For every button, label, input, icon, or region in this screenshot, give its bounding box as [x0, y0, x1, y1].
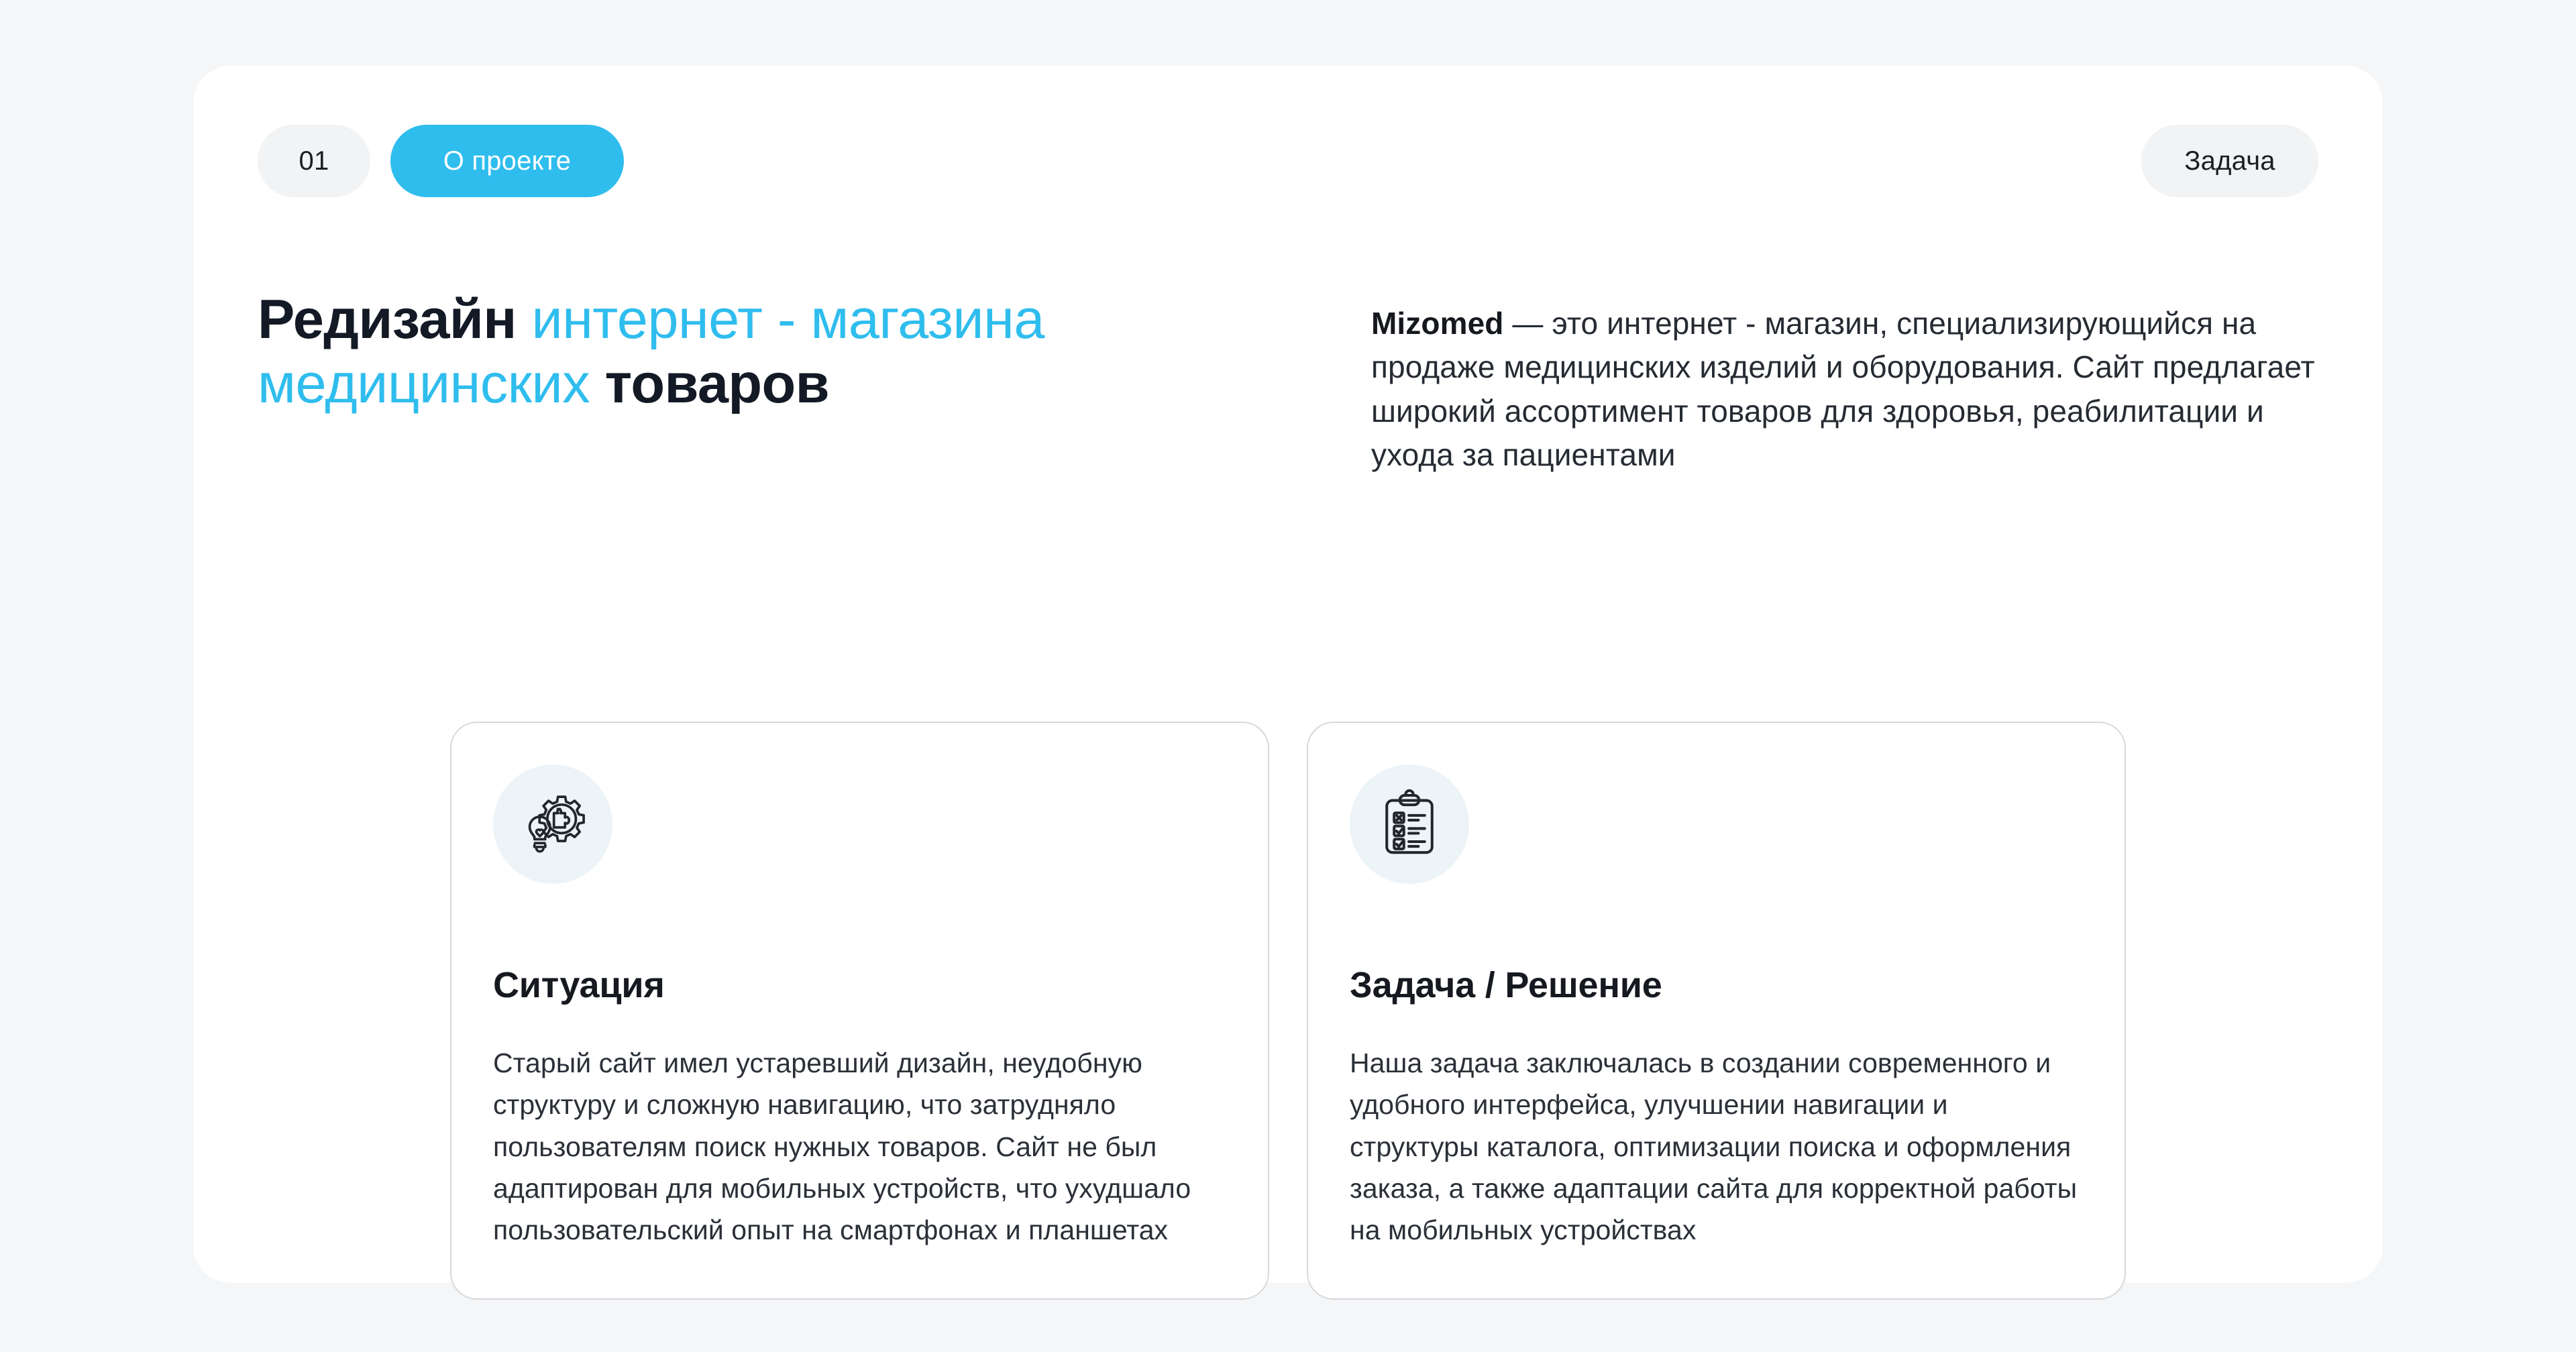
situation-card: Ситуация Старый сайт имел устаревший диз…	[450, 722, 1269, 1300]
card-title: Ситуация	[493, 964, 1226, 1006]
brand-name: Mizomed	[1371, 306, 1503, 341]
section-label-tab[interactable]: О проекте	[390, 125, 624, 197]
topbar: 01 О проекте Задача	[258, 125, 2318, 197]
icon-badge	[1350, 765, 1469, 884]
content-panel: 01 О проекте Задача Редизайн интернет - …	[193, 66, 2383, 1283]
headline-part-3: товаров	[604, 352, 829, 414]
section-number-badge: 01	[258, 125, 370, 197]
headline-column: Редизайн интернет - магазина медицинских…	[258, 287, 1304, 416]
intro-section: Редизайн интернет - магазина медицинских…	[258, 287, 2318, 477]
cards-row: Ситуация Старый сайт имел устаревший диз…	[450, 722, 2126, 1300]
gear-puzzle-lightbulb-icon	[517, 788, 589, 860]
task-badge[interactable]: Задача	[2141, 125, 2318, 197]
headline-part-1: Редизайн	[258, 288, 531, 350]
page-title: Редизайн интернет - магазина медицинских…	[258, 287, 1304, 416]
task-solution-card: Задача / Решение Наша задача заключалась…	[1307, 722, 2126, 1300]
icon-badge	[493, 765, 612, 884]
card-title: Задача / Решение	[1350, 964, 2083, 1006]
card-body: Наша задача заключалась в создании совре…	[1350, 1042, 2083, 1251]
slide-root: 01 О проекте Задача Редизайн интернет - …	[0, 0, 2576, 1352]
clipboard-checklist-icon	[1373, 788, 1446, 860]
project-description: Mizomed — это интернет - магазин, специа…	[1371, 302, 2318, 477]
description-column: Mizomed — это интернет - магазин, специа…	[1304, 287, 2318, 477]
card-body: Старый сайт имел устаревший дизайн, неуд…	[493, 1042, 1226, 1251]
section-pill-group: 01 О проекте	[258, 125, 624, 197]
description-text: — это интернет - магазин, специализирующ…	[1371, 306, 2315, 472]
